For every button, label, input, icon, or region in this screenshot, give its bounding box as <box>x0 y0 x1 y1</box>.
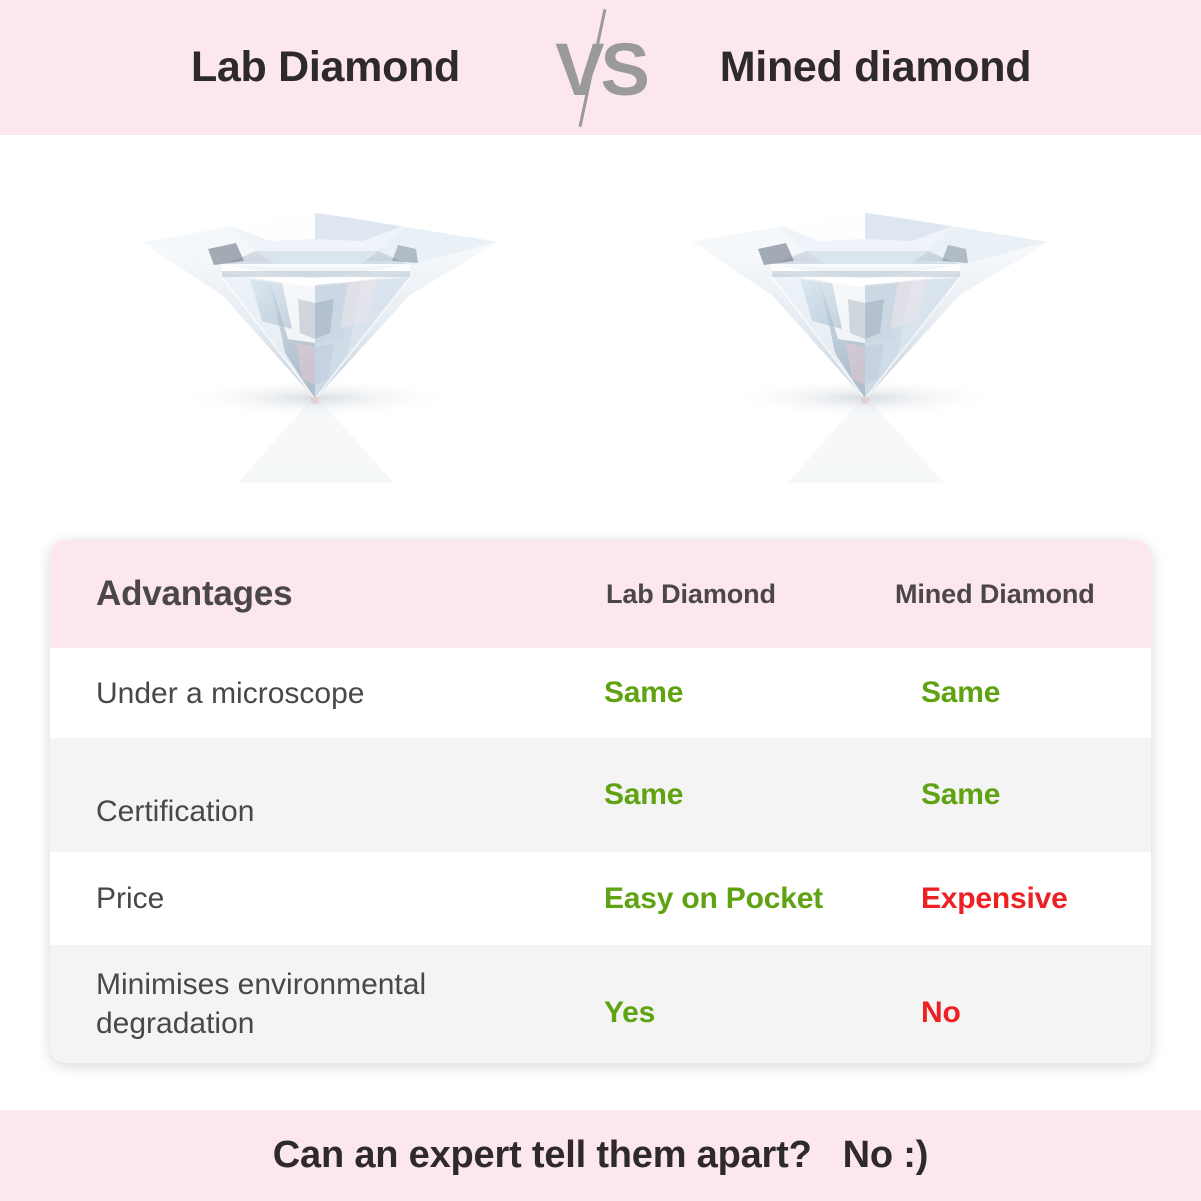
mined-value: Same <box>921 778 1000 811</box>
infographic-page: Lab Diamond VS Mined diamond <box>0 0 1201 1201</box>
versus-label: VS <box>555 33 646 107</box>
column-header-lab-diamond: Lab Diamond <box>542 579 871 610</box>
table-row: Minimises environmental degradation Yes … <box>50 945 1151 1063</box>
feature-label: Price <box>96 882 164 915</box>
lab-value: Same <box>604 676 683 709</box>
diamond-icon <box>110 153 530 483</box>
feature-label: Certification <box>96 795 254 828</box>
table-header-row: Advantages Lab Diamond Mined Diamond <box>50 540 1151 648</box>
feature-label: Minimises environmental degradation <box>96 968 426 1040</box>
header-band: Lab Diamond VS Mined diamond <box>0 0 1201 135</box>
comparison-table: Advantages Lab Diamond Mined Diamond Und… <box>50 540 1151 1063</box>
footer-band: Can an expert tell them apart? No :) <box>0 1110 1201 1201</box>
mined-value: No <box>921 996 961 1029</box>
mined-value: Same <box>921 676 1000 709</box>
table-row: Under a microscope Same Same <box>50 648 1151 738</box>
column-header-advantages: Advantages <box>50 574 542 614</box>
table-row: Price Easy on Pocket Expensive <box>50 852 1151 945</box>
header-title-lab: Lab Diamond <box>111 43 541 92</box>
footer-question: Can an expert tell them apart? No :) <box>273 1134 928 1177</box>
lab-diamond-image <box>110 153 530 483</box>
mined-diamond-image <box>660 153 1080 483</box>
lab-value: Same <box>604 778 683 811</box>
lab-value: Easy on Pocket <box>604 882 823 915</box>
versus-badge: VS <box>541 0 661 135</box>
column-header-mined-diamond: Mined Diamond <box>871 579 1151 610</box>
table-row: Certification Same Same <box>50 738 1151 852</box>
feature-label: Under a microscope <box>96 677 364 710</box>
diamond-icon <box>660 153 1080 483</box>
header-title-mined: Mined diamond <box>661 43 1091 92</box>
diamond-images-row <box>0 135 1201 535</box>
mined-value: Expensive <box>921 882 1068 915</box>
lab-value: Yes <box>604 996 655 1029</box>
